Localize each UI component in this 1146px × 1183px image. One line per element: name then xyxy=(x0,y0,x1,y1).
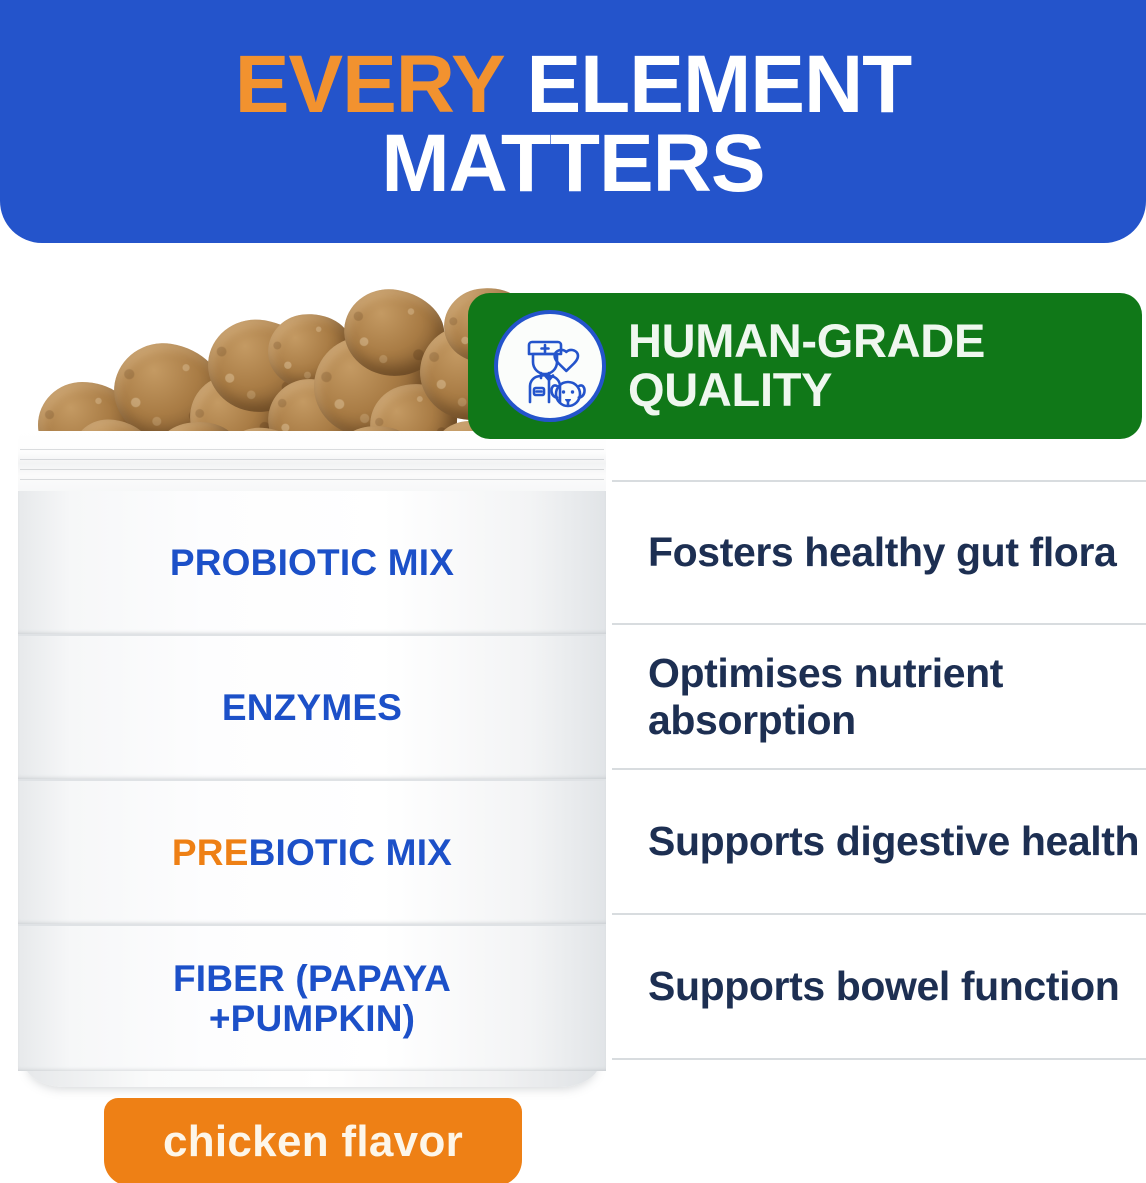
benefit-row: Supports digestive health xyxy=(612,770,1146,915)
quality-badge-text: HUMAN-GRADE QUALITY xyxy=(628,317,985,415)
headline-line-1: EVERY ELEMENT xyxy=(235,46,912,125)
lid-ridge xyxy=(20,449,604,450)
ingredient-label: ENZYMES xyxy=(222,688,402,727)
benefit-text: Supports digestive health xyxy=(648,818,1139,865)
vet-with-dog-and-heart-icon xyxy=(494,310,606,422)
lid-ridge xyxy=(20,479,604,480)
benefits-column: Fosters healthy gut flora Optimises nutr… xyxy=(612,480,1146,1060)
ingredient-rows: PROBIOTIC MIX ENZYMES PREBIOTIC MIX FIBE… xyxy=(18,491,606,1071)
product-infographic: EVERY ELEMENT MATTERS xyxy=(0,0,1146,1183)
benefit-row: Supports bowel function xyxy=(612,915,1146,1060)
headline-rest-word: ELEMENT xyxy=(526,39,911,130)
ingredient-row: ENZYMES xyxy=(18,636,606,781)
ingredient-row: PROBIOTIC MIX xyxy=(18,491,606,636)
benefit-text: Optimises nutrient absorption xyxy=(648,650,1140,743)
benefit-text: Fosters healthy gut flora xyxy=(648,529,1116,576)
vet-icon-svg xyxy=(502,318,598,414)
headline-spacer xyxy=(505,39,527,130)
benefit-text: Supports bowel function xyxy=(648,963,1119,1010)
quality-badge-line-2: QUALITY xyxy=(628,366,985,415)
jar-lid xyxy=(18,431,606,493)
benefit-row: Optimises nutrient absorption xyxy=(612,625,1146,770)
human-grade-quality-badge: HUMAN-GRADE QUALITY xyxy=(468,293,1142,439)
benefit-row: Fosters healthy gut flora xyxy=(612,480,1146,625)
ingredient-label: PREBIOTIC MIX xyxy=(172,833,452,872)
ingredient-name: BIOTIC MIX xyxy=(249,832,452,873)
header-banner: EVERY ELEMENT MATTERS xyxy=(0,0,1146,243)
ingredient-row: PREBIOTIC MIX xyxy=(18,781,606,926)
ingredient-name: PROBIOTIC MIX xyxy=(170,542,454,583)
headline-accent-word: EVERY xyxy=(235,39,505,130)
quality-badge-line-1: HUMAN-GRADE xyxy=(628,317,985,366)
headline-line-2: MATTERS xyxy=(381,125,764,204)
flavor-tab-label: chicken flavor xyxy=(163,1117,463,1167)
ingredient-row: FIBER (PAPAYA +PUMPKIN) xyxy=(18,926,606,1071)
ingredient-label: FIBER (PAPAYA +PUMPKIN) xyxy=(112,959,512,1037)
lid-ridge xyxy=(20,469,604,470)
flavor-tab: chicken flavor xyxy=(104,1098,522,1183)
ingredient-label: PROBIOTIC MIX xyxy=(170,543,454,582)
ingredient-name: ENZYMES xyxy=(222,687,402,728)
ingredient-name: FIBER (PAPAYA +PUMPKIN) xyxy=(173,958,451,1038)
lid-ridge xyxy=(20,459,604,460)
ingredient-prefix: PRE xyxy=(172,832,249,873)
